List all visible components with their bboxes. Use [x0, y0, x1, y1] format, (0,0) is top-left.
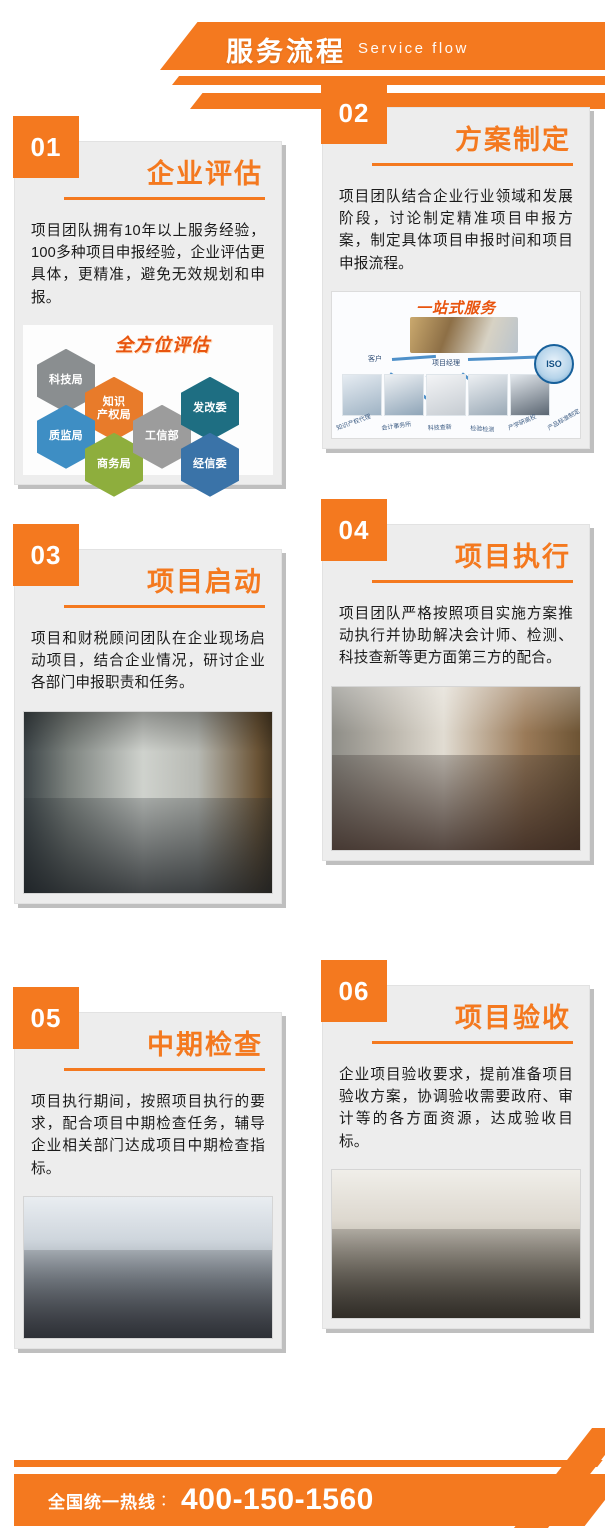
card-body-04: 项目团队严格按照项目实施方案推动执行并协助解决会计师、检测、科技查新等更方面第三… — [323, 589, 589, 686]
title-underline-05 — [64, 1068, 265, 1071]
title-underline-06 — [372, 1041, 573, 1044]
header-banner-stripe — [172, 76, 605, 85]
hotline-colon: ： — [160, 1489, 177, 1512]
oss-arrow-6 — [468, 355, 538, 360]
step-badge-04: 04 — [321, 499, 387, 561]
header-title-group: 服务流程 Service flow — [226, 27, 605, 71]
page-subtitle: Service flow — [358, 40, 469, 59]
card-media-03 — [15, 711, 281, 903]
footer-stripe — [14, 1460, 574, 1467]
card-body-01: 项目团队拥有10年以上服务经验，100多种项目申报经验，企业评估更具体，更精准，… — [15, 206, 281, 325]
hexagon-diagram: 全方位评估 科技局 知识产权局 质监局 商务局 工信部 发改委 经信委 — [23, 325, 273, 475]
oss-center-photo — [410, 317, 518, 353]
oss-center-label: 项目经理 — [432, 358, 460, 368]
card-media-05 — [15, 1196, 281, 1348]
oss-caption-3: 科技查新 — [428, 421, 452, 431]
step-badge-06: 06 — [321, 960, 387, 1022]
photo-acceptance-meeting — [331, 1169, 581, 1319]
card-media-01: 全方位评估 科技局 知识产权局 质监局 商务局 工信部 发改委 经信委 — [15, 325, 281, 484]
process-card-01[interactable]: 01 企业评估 项目团队拥有10年以上服务经验，100多种项目申报经验，企业评估… — [14, 141, 282, 485]
oss-title: 一站式服务 — [416, 297, 496, 318]
title-underline-01 — [64, 197, 265, 200]
step-badge-02: 02 — [321, 82, 387, 144]
process-card-03[interactable]: 03 项目启动 项目和财税顾问团队在企业现场启动项目，结合企业情况，研讨企业各部… — [14, 549, 282, 904]
hotline-group: 全国统一热线 ： 400-150-1560 — [48, 1474, 374, 1526]
oss-node-1 — [342, 374, 382, 416]
process-card-06[interactable]: 06 项目验收 企业项目验收要求，提前准备项目验收方案，协调验收需要政府、审计等… — [322, 985, 590, 1329]
process-card-05[interactable]: 05 中期检查 项目执行期间，按照项目执行的要求，配合项目中期检查任务，辅导企业… — [14, 1012, 282, 1349]
title-underline-02 — [372, 163, 573, 166]
one-stop-service-diagram: 一站式服务 客户 项目经理 ISO 知识产权代理 会计事务所 科技查新 — [331, 291, 581, 439]
card-media-04 — [323, 686, 589, 860]
oss-arrow-1 — [392, 355, 436, 361]
oss-caption-6: 产品标准制定 — [546, 406, 582, 432]
card-media-02: 一站式服务 客户 项目经理 ISO 知识产权代理 会计事务所 科技查新 — [323, 291, 589, 448]
hotline-label: 全国统一热线 — [48, 1488, 156, 1513]
hotline-number[interactable]: 400-150-1560 — [181, 1483, 374, 1517]
card-body-03: 项目和财税顾问团队在企业现场启动项目，结合企业情况，研讨企业各部门申报职责和任务… — [15, 614, 281, 711]
process-card-04[interactable]: 04 项目执行 项目团队严格按照项目实施方案推动执行并协助解决会计师、检测、科技… — [322, 524, 590, 861]
page-header: 服务流程 Service flow — [0, 0, 605, 110]
oss-client-label: 客户 — [368, 354, 382, 364]
title-underline-03 — [64, 605, 265, 608]
step-badge-03: 03 — [13, 524, 79, 586]
process-card-02[interactable]: 02 方案制定 项目团队结合企业行业领域和发展阶段，讨论制定精准项目申报方案，制… — [322, 107, 590, 449]
card-body-02: 项目团队结合企业行业领域和发展阶段，讨论制定精准项目申报方案，制定具体项目申报时… — [323, 172, 589, 291]
step-badge-05: 05 — [13, 987, 79, 1049]
oss-node-2 — [384, 374, 424, 416]
oss-caption-2: 会计事务所 — [381, 419, 412, 432]
card-body-06: 企业项目验收要求，提前准备项目验收方案，协调验收需要政府、审计等的各方面资源，达… — [323, 1050, 589, 1169]
title-underline-04 — [372, 580, 573, 583]
page-title: 服务流程 — [226, 30, 346, 69]
oss-node-3 — [426, 374, 466, 416]
oss-node-4 — [468, 374, 508, 416]
hexagon-diagram-title: 全方位评估 — [115, 331, 210, 357]
photo-site-visit — [23, 1196, 273, 1339]
card-body-05: 项目执行期间，按照项目执行的要求，配合项目中期检查任务，辅导企业相关部门达成项目… — [15, 1077, 281, 1196]
oss-caption-4: 检验检测 — [470, 423, 495, 434]
iso-badge-icon: ISO — [534, 344, 574, 384]
step-badge-01: 01 — [13, 116, 79, 178]
page-footer: 全国统一热线 ： 400-150-1560 — [0, 1418, 605, 1538]
card-media-06 — [323, 1169, 589, 1328]
photo-working-meeting — [331, 686, 581, 851]
photo-conference-room — [23, 711, 273, 894]
